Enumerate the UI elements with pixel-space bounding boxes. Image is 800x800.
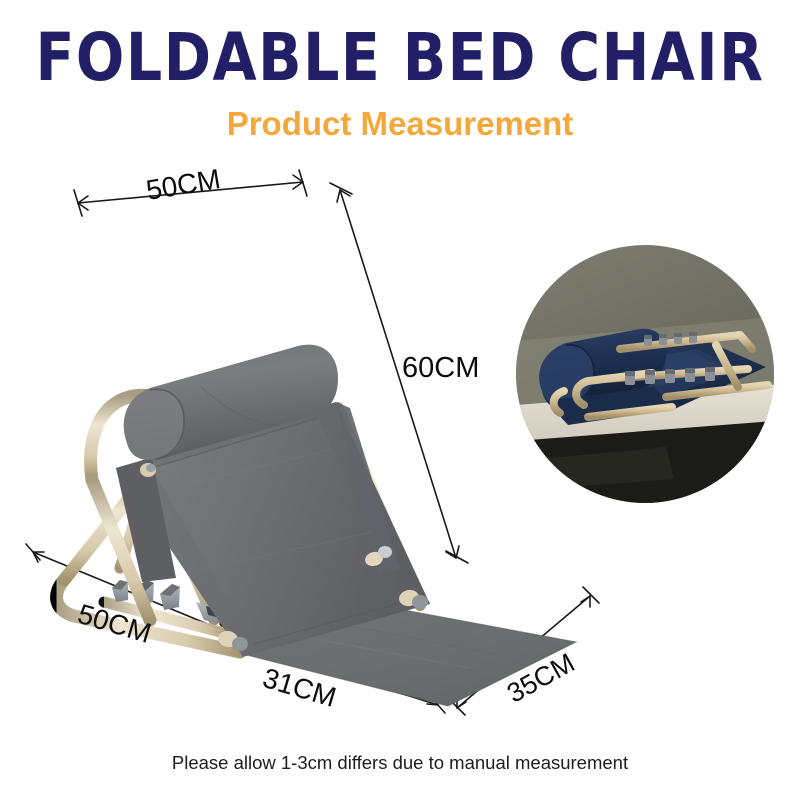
inset-photo-folded-product xyxy=(516,245,774,503)
page-subtitle: Product Measurement xyxy=(0,104,800,144)
product-infographic: FOLDABLE BED CHAIR Product Measurement xyxy=(0,0,800,800)
dimension-label-height-back: 60CM xyxy=(402,352,479,385)
page-title: FOLDABLE BED CHAIR xyxy=(0,23,800,93)
main-product-photo xyxy=(57,345,576,706)
measurement-disclaimer: Please allow 1-3cm differs due to manual… xyxy=(0,752,800,774)
